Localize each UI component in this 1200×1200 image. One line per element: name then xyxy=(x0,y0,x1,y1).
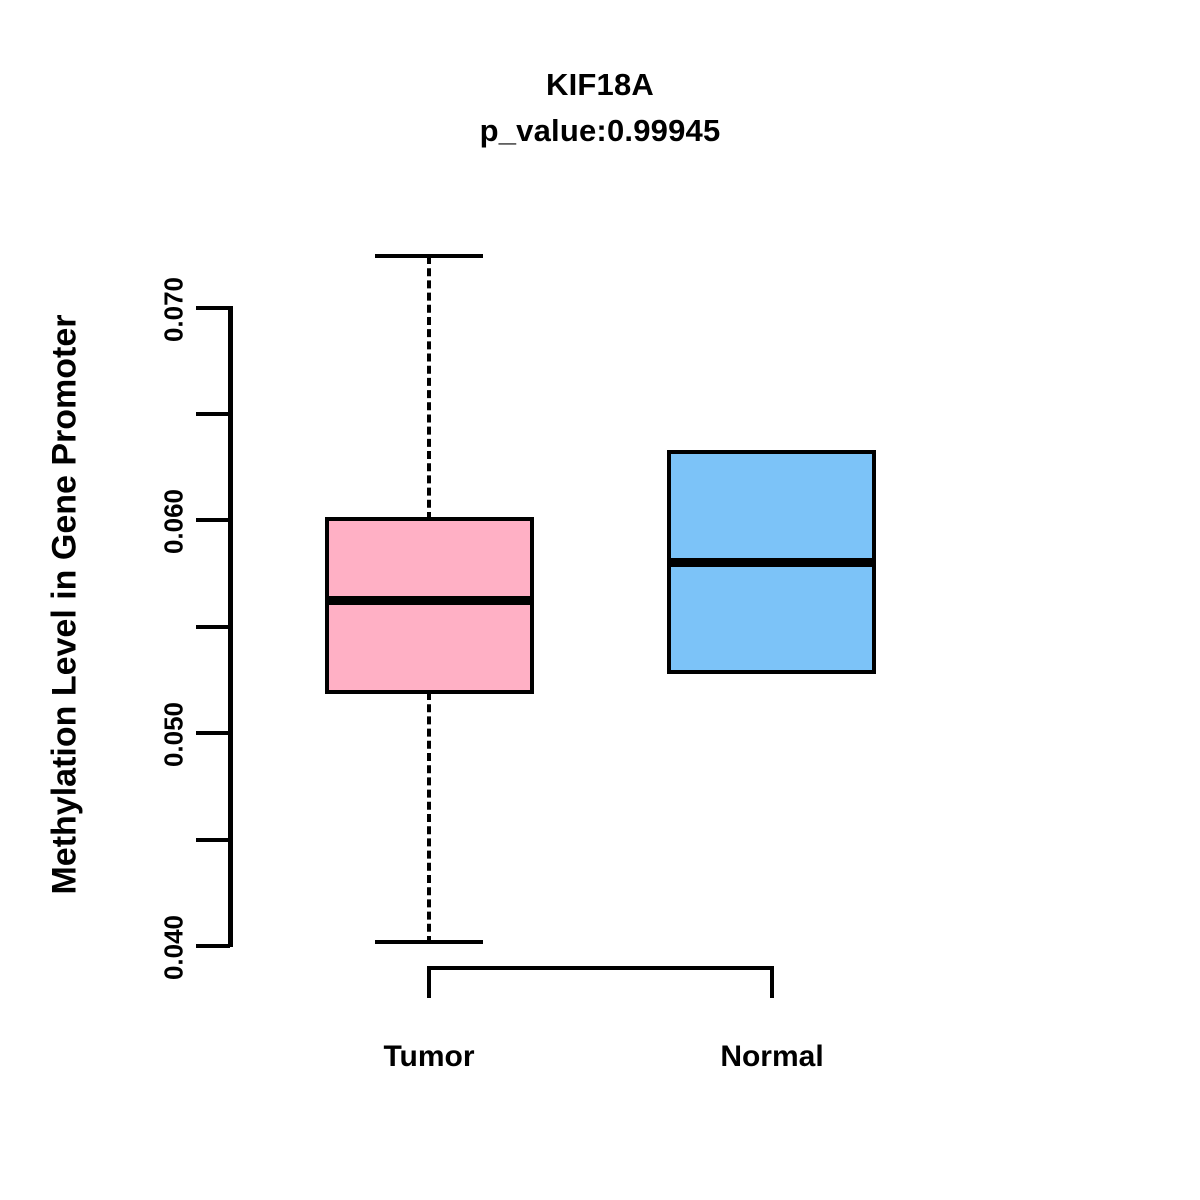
y-tick-label-050: 0.050 xyxy=(159,655,190,815)
y-tick-050 xyxy=(196,731,230,735)
chart-subtitle-pvalue: p_value:0.99945 xyxy=(0,108,1200,154)
x-tick-normal xyxy=(770,966,774,998)
x-tick-label-tumor: Tumor xyxy=(279,1040,579,1074)
y-axis-label: Methylation Level in Gene Promoter xyxy=(46,205,85,1005)
y-tick-label-070: 0.070 xyxy=(159,230,190,390)
y-tick-label-060: 0.060 xyxy=(159,442,190,602)
tumor-box xyxy=(325,517,534,694)
boxplot-figure: KIF18A p_value:0.99945 Methylation Level… xyxy=(0,0,1200,1200)
y-tick-065 xyxy=(196,412,230,416)
y-tick-070 xyxy=(196,306,230,310)
y-tick-045 xyxy=(196,838,230,842)
y-tick-055 xyxy=(196,625,230,629)
y-tick-040 xyxy=(196,944,230,948)
page-title: KIF18A xyxy=(0,62,1200,108)
chart-title-block: KIF18A p_value:0.99945 xyxy=(0,62,1200,154)
tumor-median-line xyxy=(325,596,534,605)
tumor-whisker-lower-cap xyxy=(375,940,483,944)
tumor-whisker-upper-line xyxy=(427,256,431,520)
normal-median-line xyxy=(667,558,876,567)
x-tick-label-normal: Normal xyxy=(622,1040,922,1074)
tumor-whisker-lower-line xyxy=(427,692,431,944)
x-tick-tumor xyxy=(427,966,431,998)
y-tick-label-040: 0.040 xyxy=(159,868,190,1028)
y-tick-060 xyxy=(196,518,230,522)
x-axis-spine xyxy=(427,966,774,970)
tumor-whisker-upper-cap xyxy=(375,254,483,258)
